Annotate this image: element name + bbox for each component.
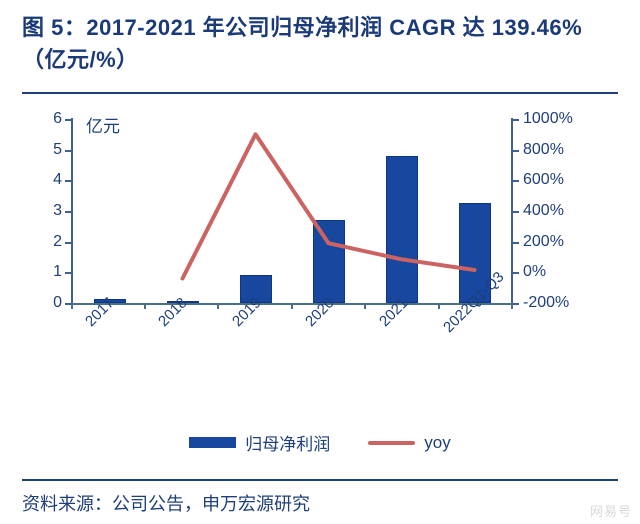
chart-legend: 归母净利润 yoy (0, 430, 640, 455)
line-swatch-icon (368, 441, 415, 445)
title-divider (22, 92, 618, 94)
legend-item-net-profit[interactable]: 归母净利润 (189, 430, 330, 455)
footer-divider (22, 479, 618, 481)
yoy-line-series (0, 100, 640, 480)
legend-label-net-profit: 归母净利润 (245, 430, 330, 455)
bar-swatch-icon (189, 437, 236, 448)
page-title: 图 5：2017-2021 年公司归母净利润 CAGR 达 139.46%（亿元… (22, 12, 622, 76)
legend-label-yoy: yoy (424, 433, 450, 453)
legend-item-yoy[interactable]: yoy (368, 433, 450, 453)
watermark-logo: 网易号 (590, 501, 632, 520)
source-note: 资料来源：公司公告，申万宏源研究 (22, 490, 310, 516)
chart-container: 亿元 6 5 4 3 2 1 0 1000% 800% 600% 400% 20… (0, 100, 640, 480)
